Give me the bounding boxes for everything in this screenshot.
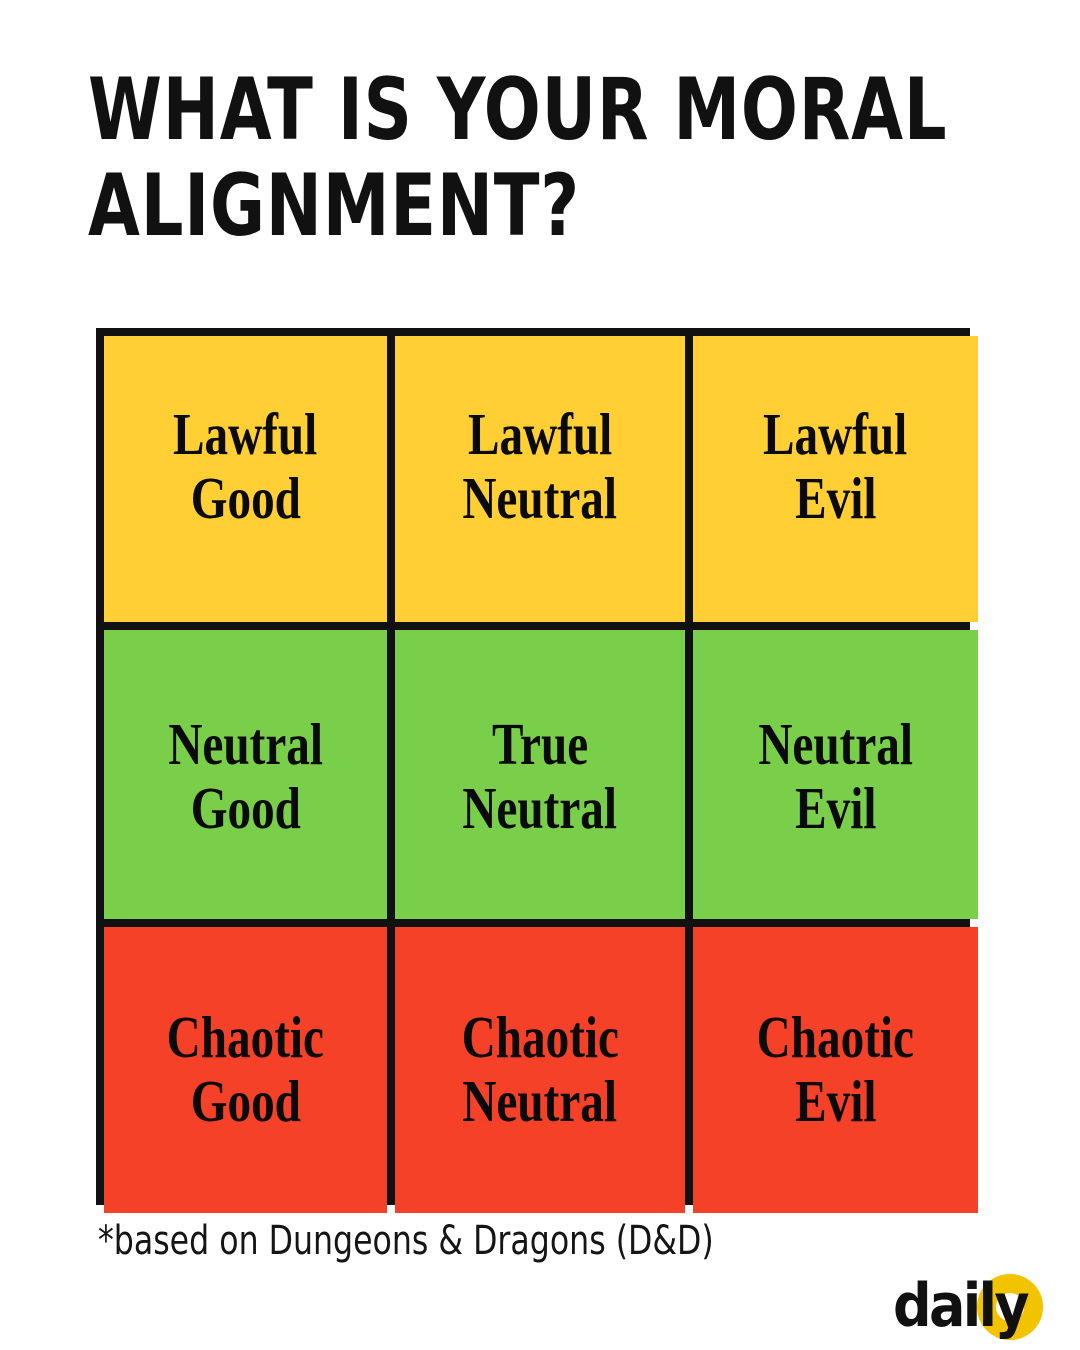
alignment-cell-label-line1: Chaotic: [461, 1005, 618, 1069]
brand-logo-wordmark: daily: [893, 1270, 1027, 1342]
alignment-cell-label-line1: Chaotic: [167, 1005, 324, 1069]
alignment-cell-label-line2: Evil: [795, 466, 876, 530]
alignment-cell-neutral-good[interactable]: Neutral Good: [104, 630, 387, 919]
alignment-cell-lawful-neutral[interactable]: Lawful Neutral: [395, 336, 685, 622]
alignment-cell-label-line2: Good: [190, 466, 300, 530]
alignment-cell-label-line1: Neutral: [758, 712, 913, 776]
alignment-cell-chaotic-neutral[interactable]: Chaotic Neutral: [395, 927, 685, 1213]
alignment-cell-true-neutral[interactable]: True Neutral: [395, 630, 685, 919]
alignment-cell-lawful-good[interactable]: Lawful Good: [104, 336, 387, 622]
alignment-cell-label-line1: Lawful: [763, 402, 907, 466]
alignment-cell-label-line1: True: [492, 712, 588, 776]
alignment-cell-label-line2: Neutral: [463, 1069, 618, 1133]
alignment-cell-label-line1: Lawful: [468, 402, 612, 466]
alignment-cell-neutral-evil[interactable]: Neutral Evil: [693, 630, 978, 919]
alignment-cell-label-line2: Evil: [795, 1069, 876, 1133]
alignment-cell-label-line1: Chaotic: [757, 1005, 914, 1069]
alignment-cell-label-line2: Good: [190, 776, 300, 840]
alignment-cell-chaotic-evil[interactable]: Chaotic Evil: [693, 927, 978, 1213]
brand-logo[interactable]: daily: [893, 1270, 1055, 1342]
alignment-cell-label-line2: Neutral: [463, 776, 618, 840]
alignment-cell-lawful-evil[interactable]: Lawful Evil: [693, 336, 978, 622]
alignment-cell-label-line2: Evil: [795, 776, 876, 840]
alignment-cell-chaotic-good[interactable]: Chaotic Good: [104, 927, 387, 1213]
alignment-cell-label-line1: Lawful: [173, 402, 317, 466]
page-title-line-2: ALIGNMENT?: [88, 158, 790, 254]
alignment-cell-label-line2: Neutral: [463, 466, 618, 530]
page-title-line-1: WHAT IS YOUR MORAL: [88, 62, 790, 158]
alignment-cell-label-line2: Good: [190, 1069, 300, 1133]
alignment-grid: Lawful Good Lawful Neutral Lawful Evil N…: [96, 328, 970, 1205]
alignment-cell-label-line1: Neutral: [168, 712, 323, 776]
footnote-source-note: *based on Dungeons & Dragons (D&D): [98, 1219, 714, 1263]
page-title: WHAT IS YOUR MORAL ALIGNMENT?: [88, 62, 988, 254]
